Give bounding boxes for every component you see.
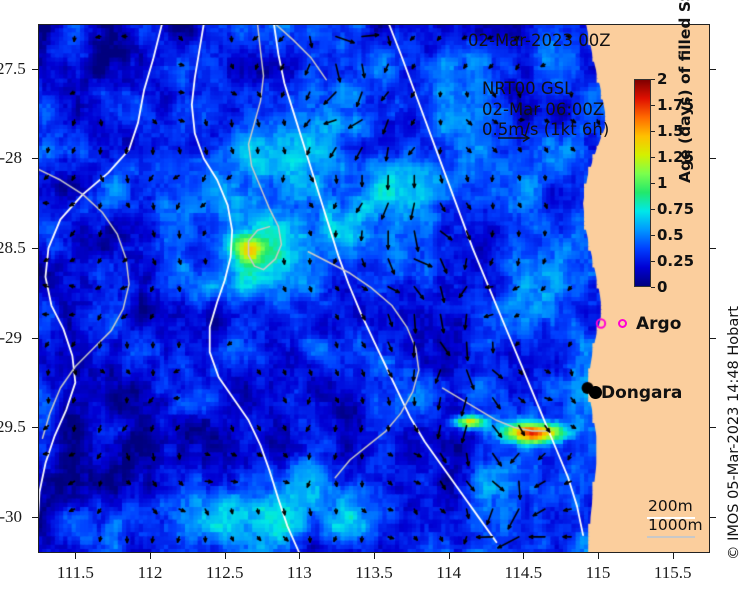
x-axis-tick-label: 115.5 <box>654 563 692 583</box>
colorbar-tick-label: 0.5 <box>657 226 684 244</box>
y-axis-tick-right <box>710 69 716 70</box>
x-axis-tick-label: 114 <box>436 563 461 583</box>
y-axis-tick <box>32 69 38 70</box>
credit-label: © IMOS 05-Mar-2023 14:48 Hobart <box>726 306 740 560</box>
x-axis-tick <box>449 553 450 559</box>
depth-200m-label: 200m <box>648 497 703 516</box>
colorbar-gradient <box>634 79 651 287</box>
colorbar-tick <box>651 235 655 236</box>
vector-scale-arrow-icon <box>498 133 532 143</box>
colorbar-tick <box>651 287 655 288</box>
x-axis-tick <box>523 553 524 559</box>
x-axis-tick-label: 113 <box>287 563 312 583</box>
argo-legend-label: Argo <box>636 314 681 334</box>
depth-1000m-line-swatch <box>647 536 695 538</box>
colorbar-tick-label: 0.25 <box>657 252 694 270</box>
colorbar-tick <box>651 261 655 262</box>
x-axis-tick-label: 112 <box>138 563 163 583</box>
depth-200m-line-swatch <box>647 517 695 519</box>
x-axis-tick-label: 114.5 <box>505 563 543 583</box>
x-axis-tick <box>299 553 300 559</box>
y-axis-tick-label: 29.5 <box>0 417 22 437</box>
colorbar-tick <box>651 209 655 210</box>
y-axis-tick <box>32 338 38 339</box>
colorbar-tick <box>651 105 655 106</box>
y-axis-tick-label: -30 <box>0 507 22 527</box>
x-axis-tick-label: 112.5 <box>206 563 244 583</box>
x-axis-tick <box>374 553 375 559</box>
colorbar-title: Age (days) of filled SST (wrt latest) <box>676 0 694 183</box>
y-axis-tick <box>32 427 38 428</box>
colorbar-tick <box>651 79 655 80</box>
colorbar-tick-label: 0 <box>657 278 667 296</box>
colorbar-tick <box>651 131 655 132</box>
y-axis-tick-right <box>710 427 716 428</box>
colorbar-tick-label: 0.75 <box>657 200 694 218</box>
x-axis-tick <box>225 553 226 559</box>
y-axis-tick-right <box>710 158 716 159</box>
y-axis-tick <box>32 158 38 159</box>
y-axis-tick-label: -29 <box>0 328 22 348</box>
colorbar-tick <box>651 183 655 184</box>
depth-contour-legend: 200m 1000m <box>648 497 703 535</box>
y-axis-tick <box>32 517 38 518</box>
y-axis-tick-label: 28.5 <box>0 238 22 258</box>
date-stamp-label: 02-Mar-2023 00Z <box>468 31 611 50</box>
x-axis-tick <box>75 553 76 559</box>
x-axis-tick-label: 115 <box>586 563 611 583</box>
x-axis-tick-label: 111.5 <box>57 563 94 583</box>
model-info-block: NRT00 GSL 02-Mar 06:00Z 0.5m/s (1kt 6h) <box>482 79 609 141</box>
y-axis-tick-label: -28 <box>0 148 22 168</box>
y-axis-tick <box>32 248 38 249</box>
x-axis-tick-label: 113.5 <box>355 563 393 583</box>
y-axis-tick-label: 27.5 <box>0 59 22 79</box>
colorbar: 21.751.51.2510.750.50.250 <box>634 79 651 287</box>
x-axis-tick <box>150 553 151 559</box>
y-axis-tick-right <box>710 338 716 339</box>
x-axis-tick <box>598 553 599 559</box>
colorbar-tick <box>651 157 655 158</box>
y-axis-tick-right <box>710 248 716 249</box>
argo-marker-icon <box>618 319 627 328</box>
y-axis-tick-right <box>710 517 716 518</box>
colorbar-tick-label: 2 <box>657 70 667 88</box>
dongara-town-label: Dongara <box>601 383 682 403</box>
sst-age-map-figure: 111.5112112.5113113.5114114.5115115.527.… <box>0 0 740 592</box>
model-time-label: 02-Mar 06:00Z <box>482 100 609 121</box>
colorbar-tick-label: 1 <box>657 174 667 192</box>
x-axis-tick <box>673 553 674 559</box>
model-name-label: NRT00 GSL <box>482 79 609 100</box>
